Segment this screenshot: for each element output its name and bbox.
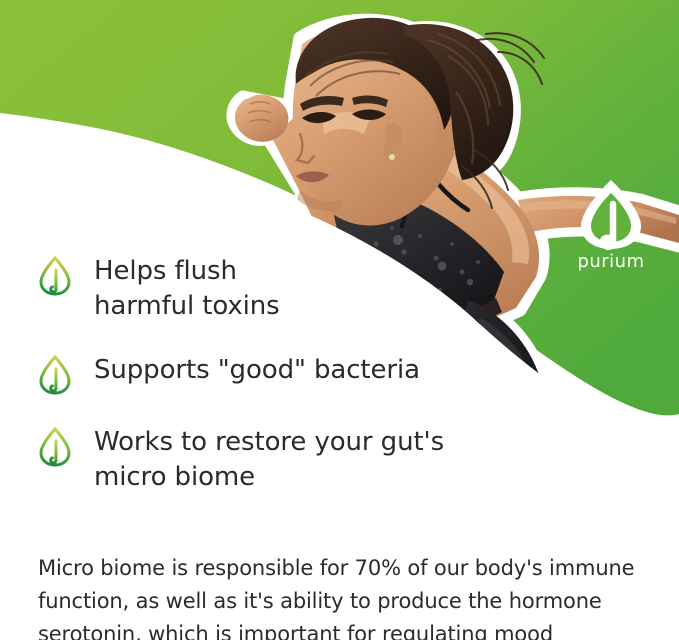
leaf-icon	[573, 176, 649, 252]
benefit-item: Works to restore your gut's micro biome	[38, 425, 598, 494]
benefit-item: Helps flush harmful toxins	[38, 254, 598, 323]
leaf-icon	[38, 427, 72, 467]
leaf-icon	[38, 355, 72, 395]
benefit-label: Works to restore your gut's micro biome	[94, 425, 444, 494]
description-paragraph: Micro biome is responsible for 70% of ou…	[38, 552, 646, 640]
benefit-label: Supports "good" bacteria	[94, 353, 420, 388]
product-benefits-poster: purium Helps flush harmful toxi	[0, 0, 679, 640]
benefits-list: Helps flush harmful toxins Supports	[38, 254, 598, 494]
leaf-icon	[38, 256, 72, 296]
benefit-item: Supports "good" bacteria	[38, 353, 598, 395]
benefit-label: Helps flush harmful toxins	[94, 254, 280, 323]
